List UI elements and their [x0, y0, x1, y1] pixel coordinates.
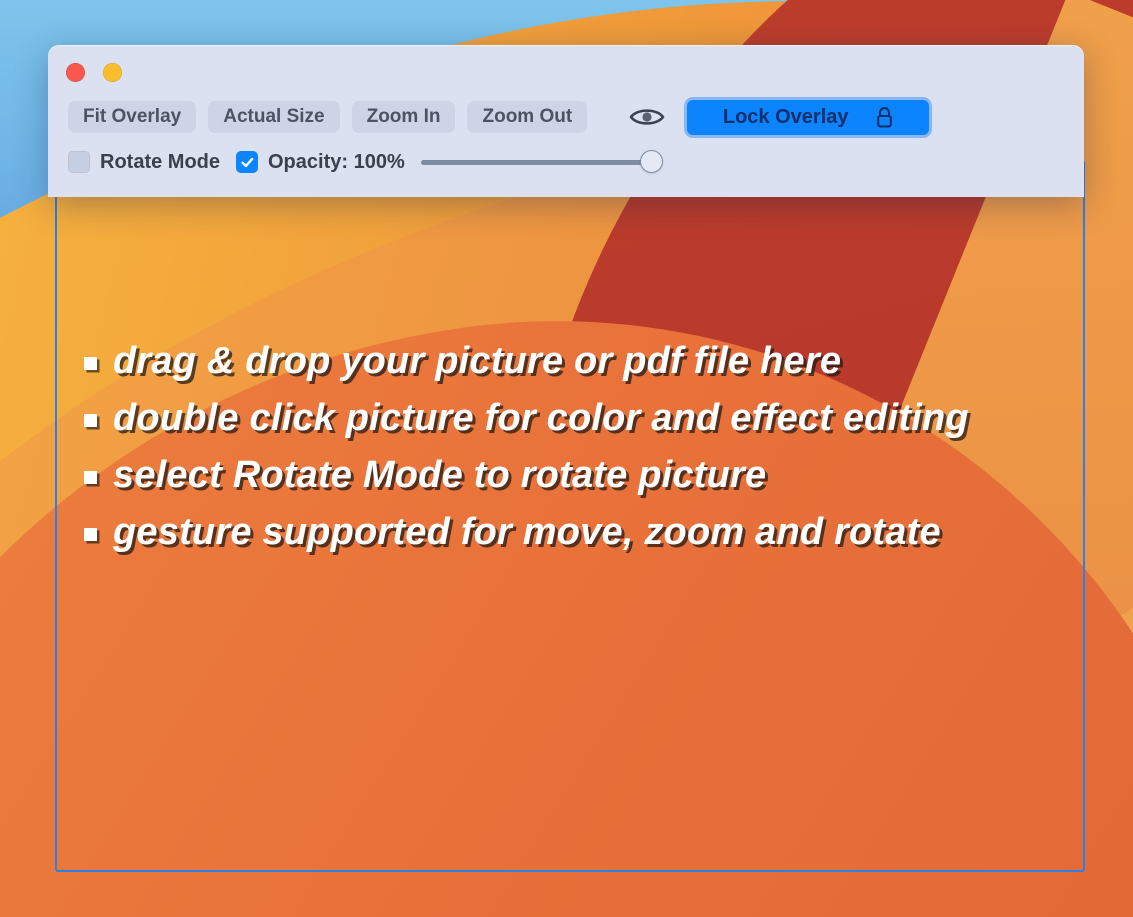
actual-size-button[interactable]: Actual Size — [208, 101, 339, 133]
hint-text: gesture supported for move, zoom and rot… — [113, 511, 941, 554]
toolbar-row-secondary: Rotate Mode Opacity: 100% — [48, 139, 1084, 185]
toolbar-row-primary: Fit Overlay Actual Size Zoom In Zoom Out… — [48, 95, 1084, 139]
opacity-slider-track — [421, 160, 661, 165]
opacity-checkbox[interactable] — [236, 151, 258, 173]
lock-overlay-label: Lock Overlay — [723, 106, 849, 129]
window-titlebar[interactable] — [48, 45, 1084, 95]
desktop-wallpaper: drag & drop your picture or pdf file her… — [0, 0, 1133, 917]
minimize-button[interactable] — [103, 63, 122, 82]
bullet-square-icon — [84, 357, 97, 370]
hint-text: select Rotate Mode to rotate picture — [113, 454, 766, 497]
app-window: Fit Overlay Actual Size Zoom In Zoom Out… — [48, 45, 1084, 197]
hint-text: drag & drop your picture or pdf file her… — [113, 340, 841, 383]
rotate-mode-label: Rotate Mode — [100, 151, 220, 174]
zoom-out-button[interactable]: Zoom Out — [467, 101, 587, 133]
lock-icon — [875, 106, 894, 129]
bullet-square-icon — [84, 414, 97, 427]
opacity-label: Opacity: 100% — [268, 151, 405, 174]
lock-overlay-button[interactable]: Lock Overlay — [687, 100, 929, 135]
hint-item: select Rotate Mode to rotate picture — [84, 454, 1084, 497]
bullet-square-icon — [84, 471, 97, 484]
hint-item: gesture supported for move, zoom and rot… — [84, 511, 1084, 554]
rotate-mode-checkbox[interactable] — [68, 151, 90, 173]
drop-hints-list: drag & drop your picture or pdf file her… — [84, 340, 1084, 568]
zoom-in-button[interactable]: Zoom In — [352, 101, 456, 133]
bullet-square-icon — [84, 528, 97, 541]
hint-text: double click picture for color and effec… — [113, 397, 969, 440]
hint-item: double click picture for color and effec… — [84, 397, 1084, 440]
fit-overlay-button[interactable]: Fit Overlay — [68, 101, 196, 133]
opacity-slider[interactable] — [421, 150, 661, 174]
hint-item: drag & drop your picture or pdf file her… — [84, 340, 1084, 383]
opacity-slider-thumb[interactable] — [640, 150, 663, 173]
eye-icon[interactable] — [627, 103, 667, 131]
close-button[interactable] — [66, 63, 85, 82]
